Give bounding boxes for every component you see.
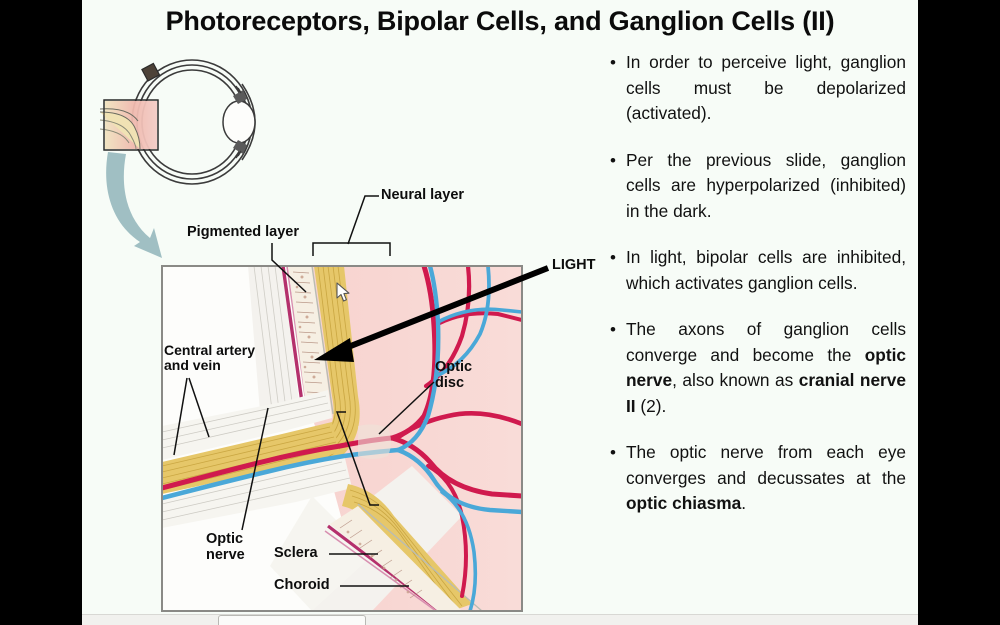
list-item: • The optic nerve from each eye converge…: [610, 440, 906, 517]
bullet-text-4: The axons of ganglion cells converge and…: [626, 317, 906, 419]
label-central-artery-and-vein: Central artery and vein: [164, 343, 255, 373]
bullet5-part-c: .: [741, 493, 746, 513]
label-choroid: Choroid: [274, 578, 330, 594]
bullet-text-5: The optic nerve from each eye converges …: [626, 440, 906, 517]
bottom-chrome-strip: [82, 614, 918, 625]
list-item: • The axons of ganglion cells converge a…: [610, 317, 906, 419]
label-pigmented-layer: Pigmented layer: [187, 225, 299, 241]
label-optic-disc: Optic disc: [435, 360, 472, 391]
bullet4-part-c: , also known as: [672, 370, 799, 390]
bullet5-part-a: The optic nerve from each eye converges …: [626, 442, 906, 488]
label-neural-layer: Neural layer: [381, 188, 464, 204]
bullet-marker: •: [610, 50, 626, 127]
list-item: • Per the previous slide, ganglion cells…: [610, 148, 906, 225]
bullet-marker: •: [610, 148, 626, 225]
bottom-chrome-tab[interactable]: [218, 615, 366, 625]
label-sclera: Sclera: [274, 546, 318, 562]
bullet-list: • In order to perceive light, ganglion c…: [610, 50, 906, 538]
mouse-cursor-icon: [336, 282, 352, 304]
list-item: • In order to perceive light, ganglion c…: [610, 50, 906, 127]
label-optic-nerve: Optic nerve: [206, 532, 245, 563]
lecture-slide: Photoreceptors, Bipolar Cells, and Gangl…: [82, 0, 918, 625]
bullet-text-2: Per the previous slide, ganglion cells a…: [626, 148, 906, 225]
zoom-indicator-arrow: [100, 150, 210, 265]
bullet-marker: •: [610, 317, 626, 419]
bullet-marker: •: [610, 440, 626, 517]
label-light: LIGHT: [552, 258, 596, 274]
bullet-text-3: In light, bipolar cells are inhibited, w…: [626, 245, 906, 296]
list-item: • In light, bipolar cells are inhibited,…: [610, 245, 906, 296]
bullet-marker: •: [610, 245, 626, 296]
bullet-text-1: In order to perceive light, ganglion cel…: [626, 50, 906, 127]
term-optic-chiasma: optic chiasma: [626, 493, 741, 513]
letterbox-bar-right: [918, 0, 1000, 625]
page-title: Photoreceptors, Bipolar Cells, and Gangl…: [82, 6, 918, 37]
letterbox-bar-left: [0, 0, 82, 625]
bullet4-part-e: (2).: [636, 396, 667, 416]
